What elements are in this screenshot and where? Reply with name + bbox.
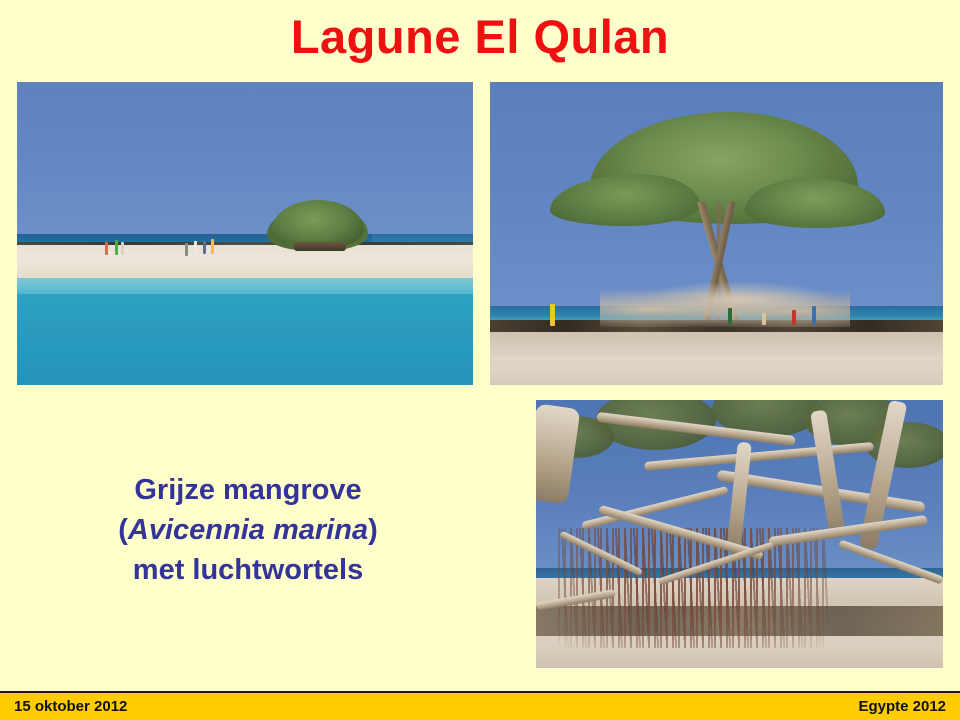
footer-bar: 15 oktober 2012 Egypte 2012 [0,691,960,720]
person-figure [211,239,214,254]
pneumatophore-field [558,528,828,648]
person-figure [185,243,188,256]
sand-mid-layer [490,332,943,358]
footer-date: 15 oktober 2012 [14,698,127,715]
person-figure [203,241,206,254]
sky-layer [17,82,473,237]
page-title: Lagune El Qulan [0,9,960,65]
footer-trip-label: Egypte 2012 [858,698,946,715]
caption-line-feature: met luchtwortels [24,550,472,590]
person-figure [550,304,555,326]
sandbar-layer [17,245,473,280]
person-figure [728,308,732,324]
open-paren: ( [118,514,128,546]
person-figure [812,306,816,325]
person-figure [105,242,108,255]
person-figure [194,241,197,254]
close-paren: ) [368,514,378,546]
sand-foreground-layer [490,356,943,385]
person-figure [121,242,124,255]
photo-mangrove-tree [490,82,943,385]
person-figure [762,313,766,325]
caption-block: Grijze mangrove (Avicennia marina) met l… [24,470,472,590]
slide: Lagune El Qulan [0,0,960,720]
caption-line-scientific-name: (Avicennia marina) [24,510,472,550]
lagoon-water-layer [17,294,473,385]
person-figure [792,310,796,325]
photo-aerial-roots [536,400,943,668]
photo-lagoon-sandbar [17,82,473,385]
caption-line-common-name: Grijze mangrove [24,470,472,510]
person-figure [115,240,118,255]
scientific-name: Avicennia marina [128,514,368,546]
